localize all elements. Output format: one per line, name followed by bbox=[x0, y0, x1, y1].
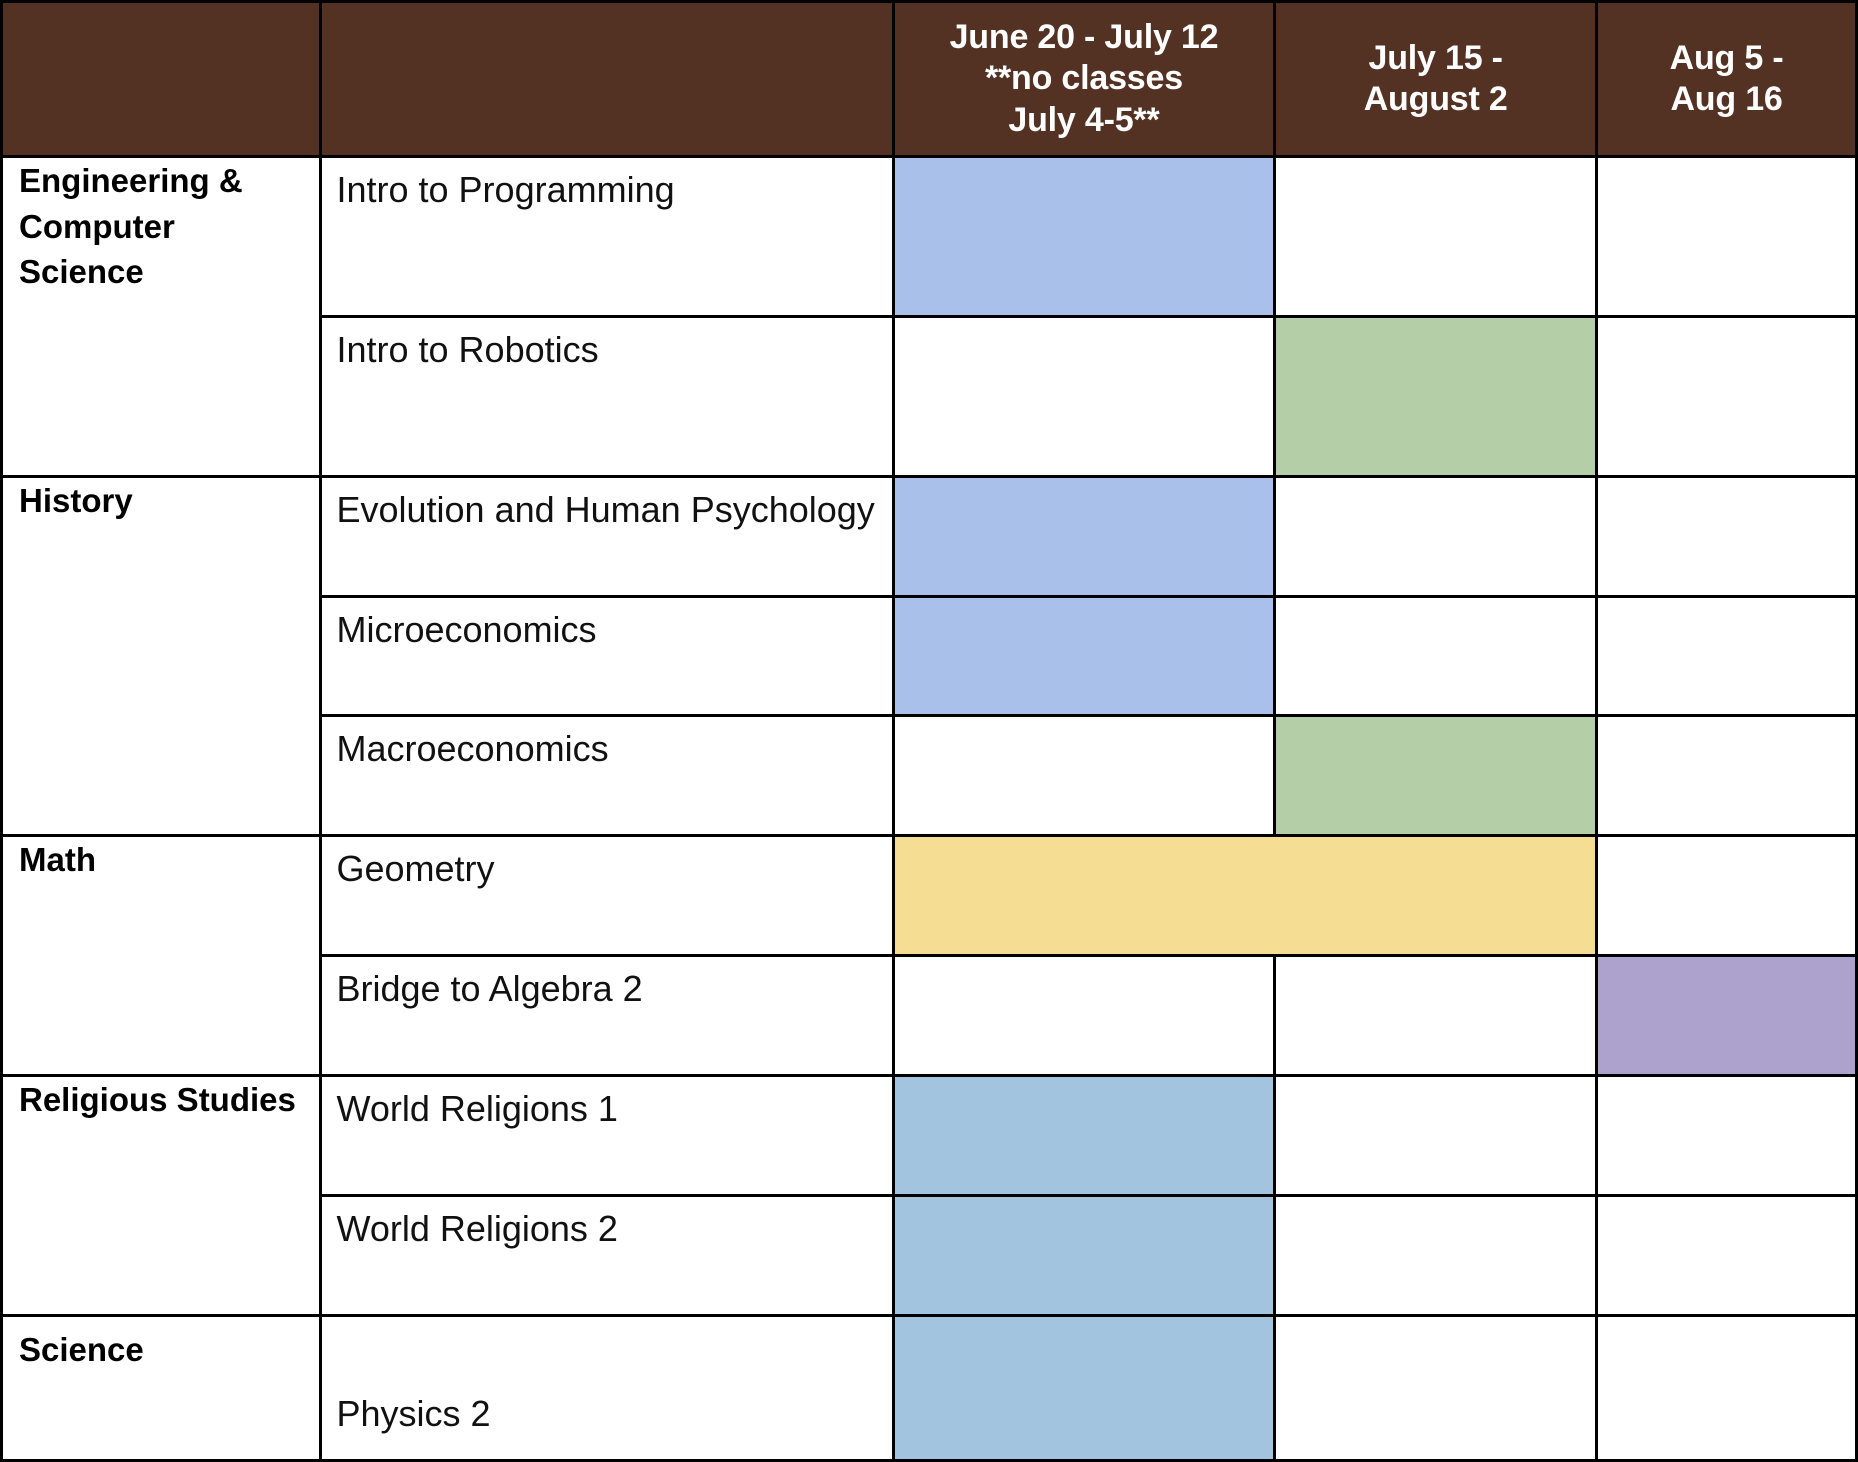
session-cell-2[interactable] bbox=[1275, 596, 1597, 716]
subject-label: Engineering & Computer Science bbox=[3, 158, 319, 309]
session-3-header-line-1: Aug 5 - bbox=[1670, 39, 1784, 77]
session-2-header-line-2: August 2 bbox=[1364, 80, 1508, 118]
session-cell-1[interactable] bbox=[893, 1076, 1274, 1196]
subject-cell-engineering-computer-science: Engineering & Computer Science bbox=[2, 157, 321, 477]
session-cell-3[interactable] bbox=[1597, 476, 1857, 596]
header-cell-course bbox=[321, 2, 893, 157]
table-header-row: June 20 - July 12 **no classes July 4-5*… bbox=[2, 2, 1857, 157]
session-cell-3[interactable] bbox=[1597, 1076, 1857, 1196]
course-cell: Intro to Robotics bbox=[321, 316, 893, 476]
course-cell: World Religions 1 bbox=[321, 1076, 893, 1196]
subject-label: Math bbox=[3, 837, 319, 897]
session-cell-3[interactable] bbox=[1597, 1196, 1857, 1316]
session-cell-2[interactable] bbox=[1275, 956, 1597, 1076]
session-cell-1[interactable] bbox=[893, 316, 1274, 476]
session-cell-3[interactable] bbox=[1597, 596, 1857, 716]
session-cell-1[interactable] bbox=[893, 476, 1274, 596]
course-schedule-table: June 20 - July 12 **no classes July 4-5*… bbox=[0, 0, 1858, 1462]
session-2-header-line-1: July 15 - bbox=[1369, 39, 1503, 77]
session-cell-3[interactable] bbox=[1597, 1316, 1857, 1461]
session-3-header-line-2: Aug 16 bbox=[1670, 80, 1782, 118]
course-label: World Religions 2 bbox=[322, 1197, 891, 1252]
session-1-header-line-2: **no classes bbox=[985, 59, 1183, 97]
session-cell-3[interactable] bbox=[1597, 836, 1857, 956]
session-cell-3[interactable] bbox=[1597, 716, 1857, 836]
table-row: Science Physics 2 bbox=[2, 1316, 1857, 1461]
course-cell: Macroeconomics bbox=[321, 716, 893, 836]
session-cell-3[interactable] bbox=[1597, 956, 1857, 1076]
subject-label: Science bbox=[3, 1317, 319, 1373]
course-cell: Microeconomics bbox=[321, 596, 893, 716]
header-cell-session-3: Aug 5 - Aug 16 bbox=[1597, 2, 1857, 157]
session-2-header-label: July 15 - August 2 bbox=[1276, 38, 1595, 121]
course-label: Bridge to Algebra 2 bbox=[322, 957, 891, 1012]
schedule-sheet: June 20 - July 12 **no classes July 4-5*… bbox=[0, 0, 1858, 1462]
session-cell-2[interactable] bbox=[1275, 476, 1597, 596]
session-cell-3[interactable] bbox=[1597, 316, 1857, 476]
subject-cell-history: History bbox=[2, 476, 321, 836]
course-label: Intro to Robotics bbox=[322, 318, 891, 373]
subject-cell-religious-studies: Religious Studies bbox=[2, 1076, 321, 1316]
session-cell-2[interactable] bbox=[1275, 1196, 1597, 1316]
course-label: Evolution and Human Psychology bbox=[322, 478, 891, 533]
session-cell-1-2-merged[interactable] bbox=[893, 836, 1596, 956]
session-cell-1[interactable] bbox=[893, 157, 1274, 317]
table-row: Religious Studies World Religions 1 bbox=[2, 1076, 1857, 1196]
session-cell-2[interactable] bbox=[1275, 716, 1597, 836]
session-cell-2[interactable] bbox=[1275, 1076, 1597, 1196]
session-cell-1[interactable] bbox=[893, 1316, 1274, 1461]
header-cell-session-2: July 15 - August 2 bbox=[1275, 2, 1597, 157]
course-label: Microeconomics bbox=[322, 598, 891, 653]
course-label: Intro to Programming bbox=[322, 158, 891, 213]
table-row: Engineering & Computer Science Intro to … bbox=[2, 157, 1857, 317]
session-cell-1[interactable] bbox=[893, 1196, 1274, 1316]
session-1-header-line-1: June 20 - July 12 bbox=[950, 18, 1219, 56]
course-label: World Religions 1 bbox=[322, 1077, 891, 1132]
subject-cell-science: Science bbox=[2, 1316, 321, 1461]
session-cell-1[interactable] bbox=[893, 956, 1274, 1076]
course-cell: Evolution and Human Psychology bbox=[321, 476, 893, 596]
subject-label: Religious Studies bbox=[3, 1077, 319, 1137]
course-cell: Physics 2 bbox=[321, 1316, 893, 1461]
session-3-header-label: Aug 5 - Aug 16 bbox=[1598, 38, 1855, 121]
course-label: Macroeconomics bbox=[322, 717, 891, 772]
session-cell-2[interactable] bbox=[1275, 1316, 1597, 1461]
course-cell: Bridge to Algebra 2 bbox=[321, 956, 893, 1076]
table-row: History Evolution and Human Psychology bbox=[2, 476, 1857, 596]
course-label: Physics 2 bbox=[322, 1392, 891, 1459]
session-1-header-line-3: July 4-5** bbox=[1008, 101, 1159, 139]
course-cell: Intro to Programming bbox=[321, 157, 893, 317]
session-cell-1[interactable] bbox=[893, 596, 1274, 716]
table-row: Math Geometry bbox=[2, 836, 1857, 956]
course-cell: Geometry bbox=[321, 836, 893, 956]
session-cell-3[interactable] bbox=[1597, 157, 1857, 317]
header-cell-session-1: June 20 - July 12 **no classes July 4-5*… bbox=[893, 2, 1274, 157]
session-cell-2[interactable] bbox=[1275, 316, 1597, 476]
subject-label: History bbox=[3, 478, 319, 538]
session-1-header-label: June 20 - July 12 **no classes July 4-5*… bbox=[895, 17, 1273, 141]
subject-cell-math: Math bbox=[2, 836, 321, 1076]
course-label: Geometry bbox=[322, 837, 891, 892]
session-cell-1[interactable] bbox=[893, 716, 1274, 836]
session-cell-2[interactable] bbox=[1275, 157, 1597, 317]
course-cell: World Religions 2 bbox=[321, 1196, 893, 1316]
header-cell-subject bbox=[2, 2, 321, 157]
